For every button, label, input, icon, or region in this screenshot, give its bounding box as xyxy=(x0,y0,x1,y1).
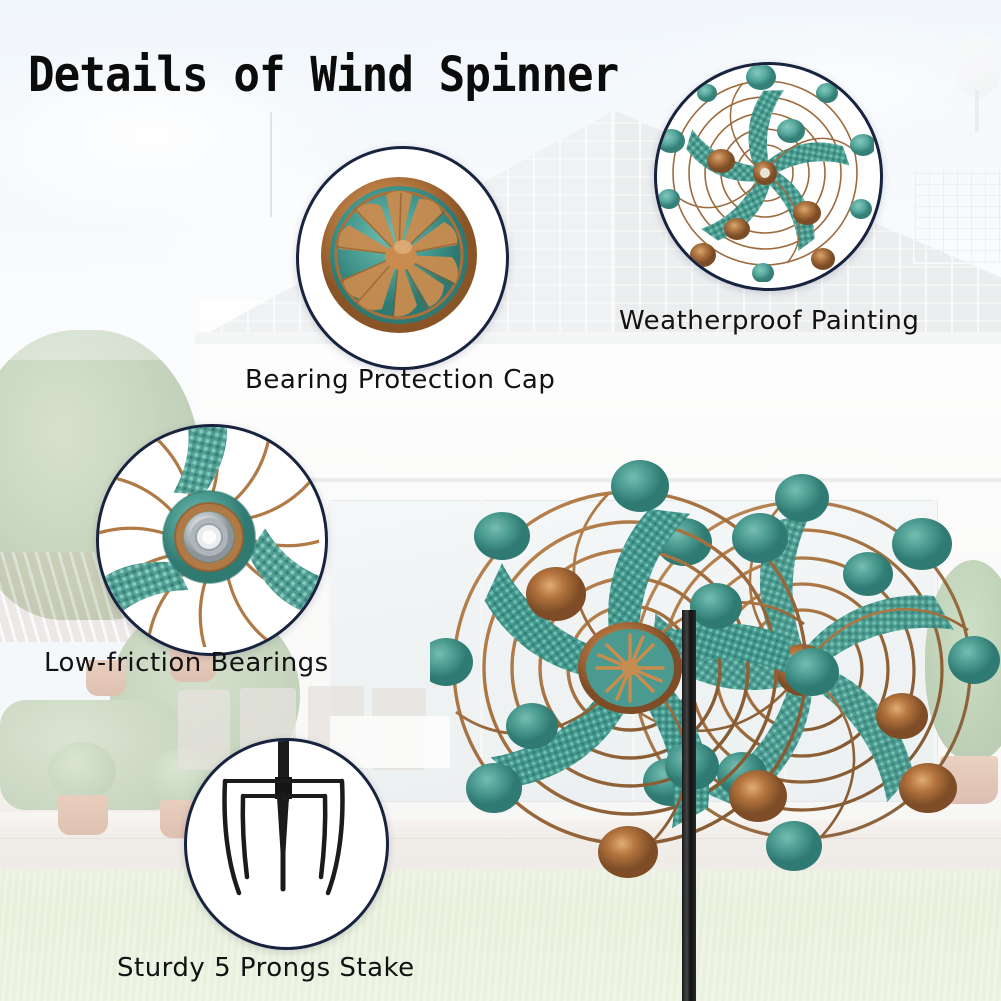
rotor-left-hub-cap xyxy=(578,622,682,714)
label-bearing-protection-cap: Bearing Protection Cap xyxy=(245,365,555,395)
label-low-friction-bearings: Low-friction Bearings xyxy=(44,648,329,678)
medallion-cap-icon xyxy=(299,149,500,361)
bearing-hub-icon xyxy=(99,427,319,647)
spinner-rotors xyxy=(430,370,1001,1001)
label-sturdy-5-prongs-stake: Sturdy 5 Prongs Stake xyxy=(117,953,415,983)
callout-low-friction-bearings[interactable] xyxy=(96,424,328,656)
label-weatherproof-painting: Weatherproof Painting xyxy=(619,306,919,336)
callout-bearing-protection-cap[interactable] xyxy=(296,146,509,370)
callout-sturdy-5-prongs-stake[interactable] xyxy=(184,738,389,950)
callout-weatherproof-painting[interactable] xyxy=(654,62,883,291)
infographic-canvas: Bearing Protection Cap xyxy=(0,0,1001,1001)
spinner-pole xyxy=(682,610,696,1001)
rotor-left xyxy=(430,460,839,878)
five-prong-stake-icon xyxy=(187,741,380,941)
spinner-rotor-icon xyxy=(657,65,874,282)
page-title: Details of Wind Spinner xyxy=(28,47,618,103)
wind-spinner-product xyxy=(430,370,1001,1001)
